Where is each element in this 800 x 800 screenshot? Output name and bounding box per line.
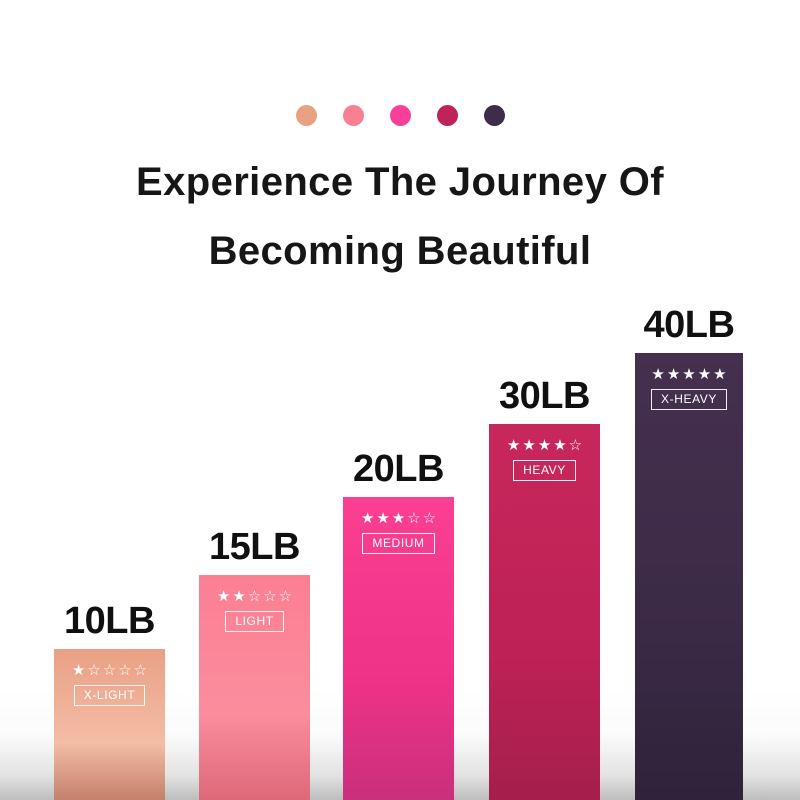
star-rating: ★☆☆☆☆ — [72, 663, 147, 678]
star-empty-icon: ☆ — [569, 438, 582, 453]
star-filled-icon: ★ — [553, 438, 566, 453]
bar-rect[interactable]: ★★★☆☆MEDIUM — [343, 497, 454, 800]
star-filled-icon: ★ — [361, 511, 374, 526]
star-filled-icon: ★ — [698, 367, 711, 382]
star-empty-icon: ☆ — [263, 589, 276, 604]
bar-content: ★☆☆☆☆X-LIGHT — [54, 663, 165, 706]
star-empty-icon: ☆ — [87, 663, 100, 678]
bar-weight-label: 30LB — [489, 377, 600, 415]
star-filled-icon: ★ — [72, 663, 85, 678]
poster-root: Experience The Journey Of Becoming Beaut… — [0, 0, 800, 800]
star-filled-icon: ★ — [713, 367, 726, 382]
star-empty-icon: ☆ — [407, 511, 420, 526]
star-rating: ★★★★☆ — [507, 438, 582, 453]
bar-weight-label: 15LB — [199, 528, 310, 566]
bar-group[interactable]: 10LB★☆☆☆☆X-LIGHT — [54, 649, 165, 800]
level-badge: MEDIUM — [362, 533, 434, 554]
bar-weight-label: 10LB — [54, 602, 165, 640]
bar-group[interactable]: 20LB★★★☆☆MEDIUM — [343, 497, 454, 800]
bar-group[interactable]: 30LB★★★★☆HEAVY — [489, 424, 600, 800]
bar-rect[interactable]: ★★☆☆☆LIGHT — [199, 575, 310, 800]
bar-group[interactable]: 15LB★★☆☆☆LIGHT — [199, 575, 310, 800]
level-badge: HEAVY — [513, 460, 576, 481]
bar-weight-label: 20LB — [343, 450, 454, 488]
star-filled-icon: ★ — [682, 367, 695, 382]
resistance-band-bar-chart: 10LB★☆☆☆☆X-LIGHT15LB★★☆☆☆LIGHT20LB★★★☆☆M… — [0, 0, 800, 800]
star-empty-icon: ☆ — [103, 663, 116, 678]
level-badge: LIGHT — [225, 611, 283, 632]
bar-content: ★★☆☆☆LIGHT — [199, 589, 310, 632]
star-filled-icon: ★ — [392, 511, 405, 526]
star-rating: ★★★☆☆ — [361, 511, 436, 526]
bar-group[interactable]: 40LB★★★★★X-HEAVY — [635, 353, 743, 800]
star-empty-icon: ☆ — [248, 589, 261, 604]
star-filled-icon: ★ — [232, 589, 245, 604]
star-filled-icon: ★ — [507, 438, 520, 453]
star-empty-icon: ☆ — [118, 663, 131, 678]
bar-weight-label: 40LB — [635, 306, 743, 344]
star-rating: ★★★★★ — [651, 367, 726, 382]
bar-rect[interactable]: ★★★★★X-HEAVY — [635, 353, 743, 800]
star-filled-icon: ★ — [651, 367, 664, 382]
level-badge: X-HEAVY — [651, 389, 727, 410]
star-filled-icon: ★ — [538, 438, 551, 453]
star-filled-icon: ★ — [376, 511, 389, 526]
bar-rect[interactable]: ★★★★☆HEAVY — [489, 424, 600, 800]
star-empty-icon: ☆ — [423, 511, 436, 526]
level-badge: X-LIGHT — [74, 685, 146, 706]
star-filled-icon: ★ — [522, 438, 535, 453]
bar-content: ★★★★☆HEAVY — [489, 438, 600, 481]
star-filled-icon: ★ — [217, 589, 230, 604]
star-empty-icon: ☆ — [134, 663, 147, 678]
bar-content: ★★★★★X-HEAVY — [635, 367, 743, 410]
star-rating: ★★☆☆☆ — [217, 589, 292, 604]
star-filled-icon: ★ — [667, 367, 680, 382]
star-empty-icon: ☆ — [279, 589, 292, 604]
bar-content: ★★★☆☆MEDIUM — [343, 511, 454, 554]
bar-rect[interactable]: ★☆☆☆☆X-LIGHT — [54, 649, 165, 800]
